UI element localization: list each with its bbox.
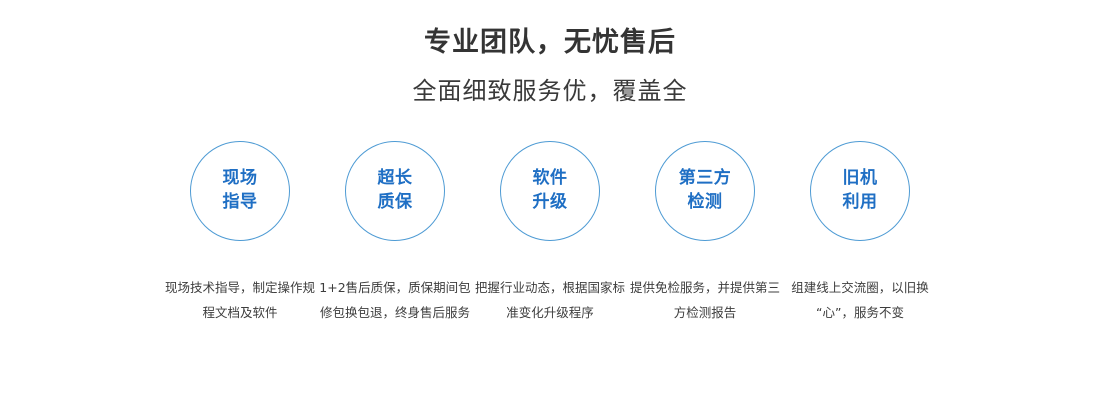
feature-caption-2: 1+2售后质保，质保期间包修包换包退，终身售后服务 — [315, 275, 475, 325]
feature-circle-label-line1: 第三方 — [679, 167, 732, 190]
after-sales-service-section: 专业团队，无忧售后 全面细致服务优，覆盖全 现场 指导 现场技术指导，制定操作规… — [0, 0, 1100, 404]
feature-circle-label-line2: 升级 — [533, 191, 568, 214]
feature-caption-1: 现场技术指导，制定操作规程文档及软件 — [160, 275, 320, 325]
feature-item-4[interactable]: 第三方 检测 提供免检服务，并提供第三方检测报告 — [628, 141, 783, 325]
feature-circle-label-line2: 质保 — [378, 191, 413, 214]
feature-caption-5: 组建线上交流圈，以旧换“心”，服务不变 — [780, 275, 940, 325]
feature-item-5[interactable]: 旧机 利用 组建线上交流圈，以旧换“心”，服务不变 — [783, 141, 938, 325]
feature-item-2[interactable]: 超长 质保 1+2售后质保，质保期间包修包换包退，终身售后服务 — [318, 141, 473, 325]
feature-circle-label-line1: 旧机 — [843, 167, 878, 190]
feature-caption-4: 提供免检服务，并提供第三方检测报告 — [625, 275, 785, 325]
feature-item-1[interactable]: 现场 指导 现场技术指导，制定操作规程文档及软件 — [163, 141, 318, 325]
feature-circle-label-line1: 软件 — [533, 167, 568, 190]
feature-circle-3[interactable]: 软件 升级 — [500, 141, 600, 241]
heading-block: 专业团队，无忧售后 全面细致服务优，覆盖全 — [0, 0, 1100, 107]
feature-circle-label-line1: 超长 — [378, 167, 413, 190]
feature-circle-4[interactable]: 第三方 检测 — [655, 141, 755, 241]
page-subtitle: 全面细致服务优，覆盖全 — [0, 76, 1100, 107]
feature-circle-label-line2: 检测 — [688, 191, 723, 214]
feature-caption-3: 把握行业动态，根据国家标准变化升级程序 — [470, 275, 630, 325]
feature-circle-label-line2: 利用 — [843, 191, 878, 214]
feature-circle-label-line1: 现场 — [223, 167, 258, 190]
feature-list: 现场 指导 现场技术指导，制定操作规程文档及软件 超长 质保 1+2售后质保，质… — [0, 141, 1100, 325]
feature-circle-2[interactable]: 超长 质保 — [345, 141, 445, 241]
feature-circle-1[interactable]: 现场 指导 — [190, 141, 290, 241]
feature-circle-5[interactable]: 旧机 利用 — [810, 141, 910, 241]
feature-circle-label-line2: 指导 — [223, 191, 258, 214]
page-title: 专业团队，无忧售后 — [0, 26, 1100, 60]
feature-item-3[interactable]: 软件 升级 把握行业动态，根据国家标准变化升级程序 — [473, 141, 628, 325]
